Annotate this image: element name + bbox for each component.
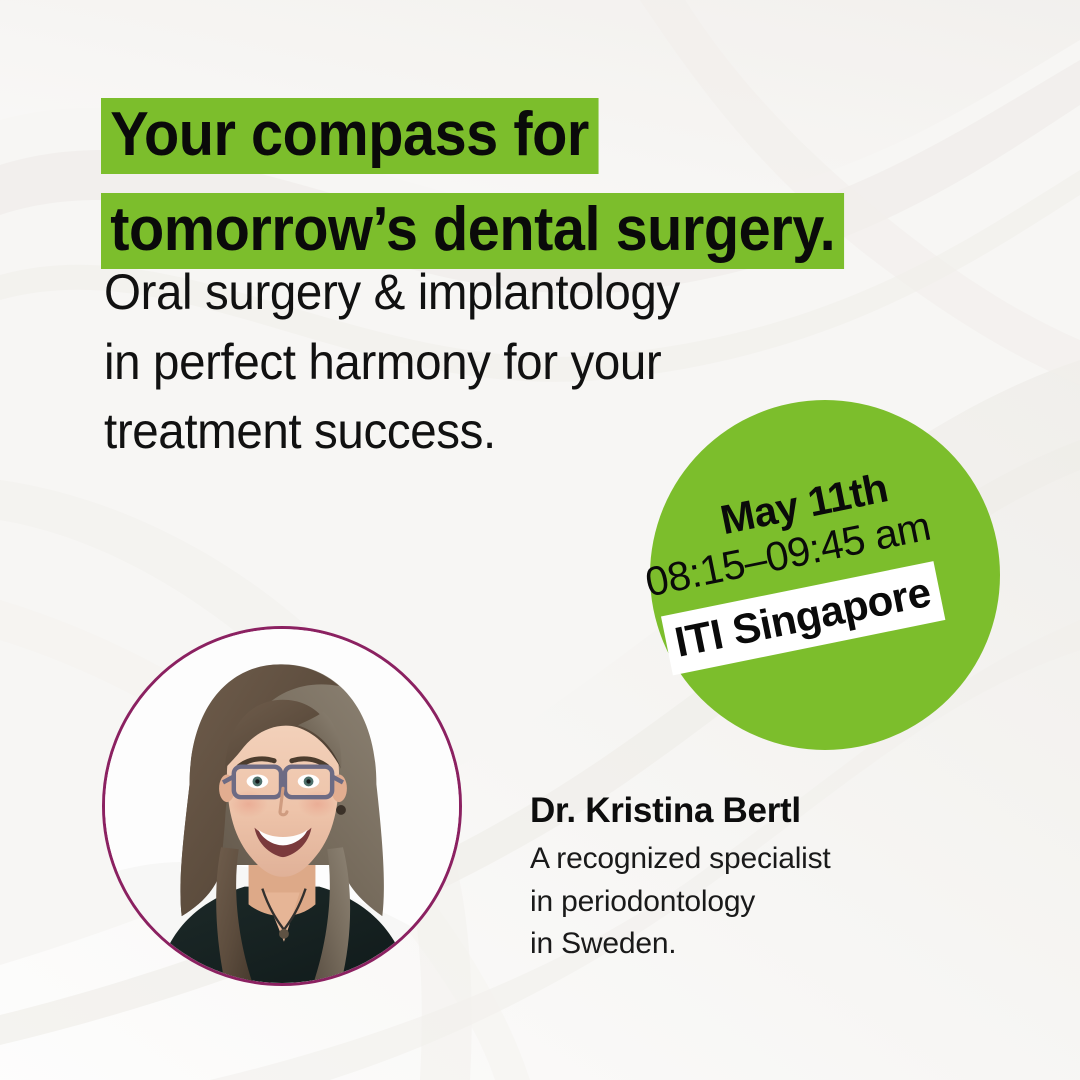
speaker-name: Dr. Kristina Bertl (530, 790, 831, 832)
subheading: Oral surgery & implantology in perfect h… (104, 258, 680, 467)
speaker-bio-line-1: A recognized specialist (530, 838, 831, 881)
speaker-bio-line-3: in Sweden. (530, 923, 831, 966)
subheading-line-2: in perfect harmony for your (104, 328, 680, 398)
event-badge-text: May 11th 08:15–09:45 am ITI Singapore (619, 369, 1032, 782)
speaker-info: Dr. Kristina Bertl A recognized speciali… (530, 790, 831, 966)
subheading-line-3: treatment success. (104, 397, 680, 467)
subheading-line-1: Oral surgery & implantology (104, 258, 680, 328)
speaker-bio: A recognized specialist in periodontolog… (530, 838, 831, 966)
speaker-bio-line-2: in periodontology (530, 881, 831, 924)
headline: Your compass for tomorrow’s dental surge… (101, 98, 900, 269)
headline-line-1: Your compass for (101, 98, 598, 174)
speaker-portrait (102, 626, 462, 986)
